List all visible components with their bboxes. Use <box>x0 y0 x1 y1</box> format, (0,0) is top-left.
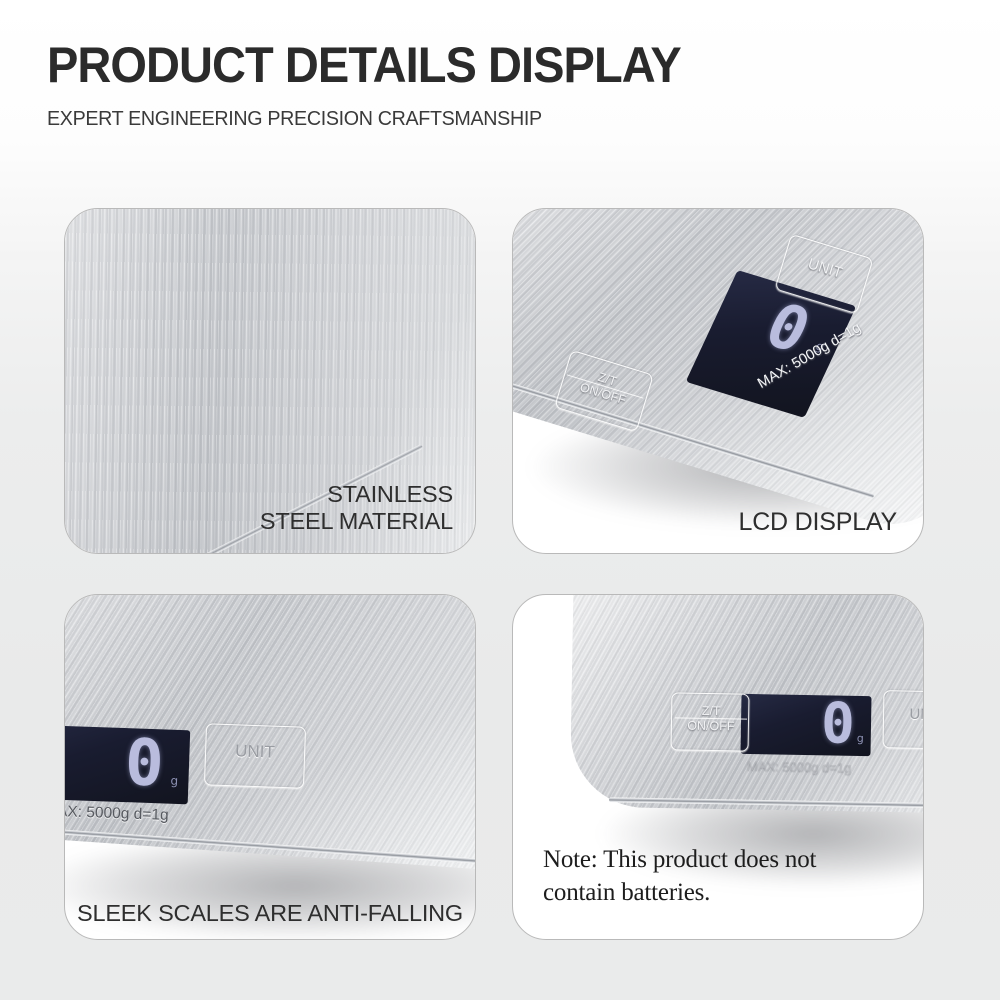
caption-line-1: STAINLESS <box>260 481 453 508</box>
page-header: PRODUCT DETAILS DISPLAY EXPERT ENGINEERI… <box>47 40 947 131</box>
panel-caption: STAINLESS STEEL MATERIAL <box>260 481 453 536</box>
lcd-digit-value: 0 <box>820 694 855 756</box>
panel-battery-note[interactable]: 0 g Z/T ON/OFF UNIT MAX: 5000g d=1g Note… <box>512 594 924 940</box>
zt-label-bottom: ON/OFF <box>675 717 747 733</box>
max-capacity-label: AX: 5000g d=1g <box>65 803 169 825</box>
zero-tare-on-off-button-label: Z/T ON/OFF <box>675 704 747 733</box>
caption-line-1: SLEEK SCALES ARE ANTI-FALLING <box>77 900 463 927</box>
caption-line-1: Note: This product does not contain batt… <box>543 843 873 909</box>
photo-lcd-display: 0 g Z/T ON/OFF UNIT MAX: 5000g d=1g <box>513 209 923 553</box>
unit-button-label: UNIT <box>887 706 923 723</box>
page-title: PRODUCT DETAILS DISPLAY <box>47 40 893 90</box>
caption-line-1: LCD DISPLAY <box>738 508 897 537</box>
lcd-digit-value: 0 <box>124 726 165 801</box>
max-capacity-label: MAX: 5000g d=1g <box>747 758 852 775</box>
panel-sleek-scales-anti-falling[interactable]: 0 g UNIT AX: 5000g d=1g SLEEK SCALES ARE… <box>64 594 476 940</box>
photo-scale-corner: 0 g UNIT AX: 5000g d=1g <box>65 595 475 939</box>
page-subtitle: EXPERT ENGINEERING PRECISION CRAFTSMANSH… <box>47 107 911 131</box>
panel-caption: LCD DISPLAY <box>738 508 897 537</box>
lcd-unit-indicator: g <box>170 774 178 788</box>
caption-line-2: STEEL MATERIAL <box>260 508 453 535</box>
panel-caption: SLEEK SCALES ARE ANTI-FALLING <box>77 900 463 927</box>
lcd-screen: 0 g <box>65 724 190 805</box>
zt-label-top: Z/T <box>675 704 747 718</box>
lcd-screen: 0 g <box>740 694 871 756</box>
lcd-unit-indicator: g <box>857 732 864 745</box>
panel-caption: Note: This product does not contain batt… <box>543 843 873 909</box>
panel-lcd-display[interactable]: 0 g Z/T ON/OFF UNIT MAX: 5000g d=1g LCD … <box>512 208 924 554</box>
panel-stainless-steel-material[interactable]: 0 UNIT STAINLESS STEEL MATERIAL <box>64 208 476 554</box>
unit-button-label: UNIT <box>209 741 302 762</box>
product-detail-grid: 0 UNIT STAINLESS STEEL MATERIAL 0 g Z <box>64 208 936 946</box>
